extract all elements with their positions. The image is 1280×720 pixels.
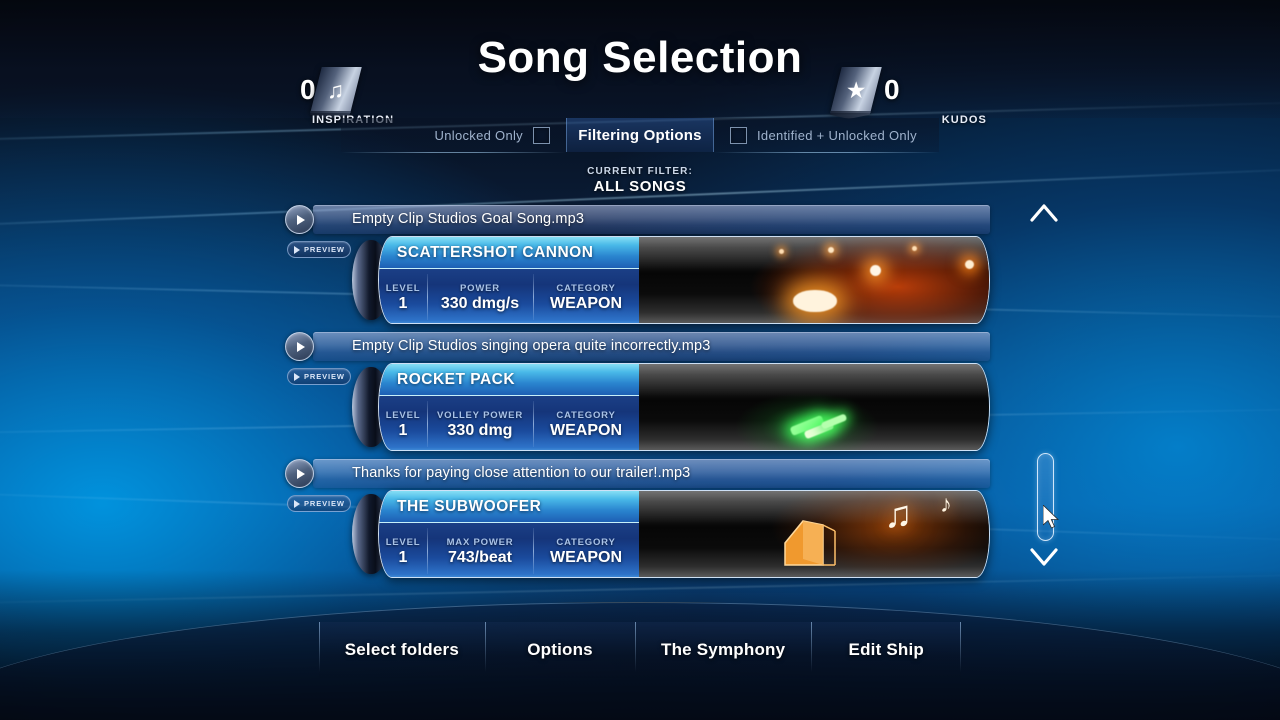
weapon-stats: LEVEL 1 POWER 330 dmg/s CATEGORY WEAPON bbox=[379, 269, 639, 324]
song-selection-screen: Song Selection 0 ♫ INSPIRATION ★ 0 KUDOS… bbox=[0, 0, 1280, 720]
filtering-options-label: Filtering Options bbox=[578, 127, 701, 144]
song-title-row[interactable]: Empty Clip Studios Goal Song.mp3 bbox=[285, 203, 990, 236]
play-small-icon bbox=[294, 373, 300, 381]
stat-label: LEVEL bbox=[386, 537, 421, 548]
stat-value: WEAPON bbox=[550, 423, 622, 439]
weapon-card[interactable]: ROCKET PACK LEVEL 1 VOLLEY POWER 330 dmg bbox=[352, 363, 990, 451]
stat-label: CATEGORY bbox=[556, 283, 615, 294]
weapon-card[interactable]: SCATTERSHOT CANNON LEVEL 1 POWER 330 dmg… bbox=[352, 236, 990, 324]
stat-value: 330 dmg bbox=[448, 423, 513, 439]
identified-unlocked-only-option[interactable]: Identified + Unlocked Only bbox=[714, 118, 939, 152]
divider bbox=[341, 152, 566, 153]
preview-label: PREVIEW bbox=[304, 245, 345, 254]
song-list: Empty Clip Studios Goal Song.mp3 PREVIEW… bbox=[0, 203, 1280, 584]
play-icon[interactable] bbox=[285, 205, 314, 234]
inspiration-counter: 0 ♫ INSPIRATION bbox=[300, 68, 450, 116]
weapon-info: THE SUBWOOFER LEVEL 1 MAX POWER 743/beat bbox=[379, 491, 639, 577]
weapon-stat: CATEGORY WEAPON bbox=[533, 396, 639, 451]
weapon-stat: MAX POWER 743/beat bbox=[427, 523, 533, 578]
song-entry[interactable]: Empty Clip Studios singing opera quite i… bbox=[0, 330, 1280, 457]
preview-button[interactable]: PREVIEW bbox=[287, 368, 351, 385]
chevron-down-icon[interactable] bbox=[1027, 546, 1061, 568]
weapon-stats: LEVEL 1 VOLLEY POWER 330 dmg CATEGORY WE… bbox=[379, 396, 639, 451]
nav-the-symphony[interactable]: The Symphony bbox=[635, 622, 811, 678]
mouse-cursor bbox=[1043, 505, 1061, 531]
preview-label: PREVIEW bbox=[304, 499, 345, 508]
identified-unlocked-only-checkbox[interactable] bbox=[730, 127, 747, 144]
stat-value: 743/beat bbox=[448, 550, 512, 566]
stat-value: WEAPON bbox=[550, 296, 622, 312]
weapon-stat: VOLLEY POWER 330 dmg bbox=[427, 396, 533, 451]
stat-value: 330 dmg/s bbox=[441, 296, 519, 312]
preview-button[interactable]: PREVIEW bbox=[287, 241, 351, 258]
weapon-card[interactable]: THE SUBWOOFER LEVEL 1 MAX POWER 743/beat bbox=[352, 490, 990, 578]
nav-label: Select folders bbox=[345, 640, 459, 660]
weapon-info: SCATTERSHOT CANNON LEVEL 1 POWER 330 dmg… bbox=[379, 237, 639, 323]
header: Song Selection 0 ♫ INSPIRATION ★ 0 KUDOS bbox=[0, 0, 1280, 118]
weapon-stat: LEVEL 1 bbox=[379, 523, 427, 578]
scrollbar[interactable] bbox=[1015, 200, 1075, 590]
weapon-title: SCATTERSHOT CANNON bbox=[379, 237, 639, 269]
stat-label: CATEGORY bbox=[556, 537, 615, 548]
play-icon[interactable] bbox=[285, 459, 314, 488]
weapon-title: ROCKET PACK bbox=[379, 364, 639, 396]
weapon-stat: CATEGORY WEAPON bbox=[533, 523, 639, 578]
stat-label: POWER bbox=[460, 283, 500, 294]
unlocked-only-label: Unlocked Only bbox=[435, 128, 523, 143]
bottom-navigation: Select folders Options The Symphony Edit… bbox=[0, 612, 1280, 720]
capsule-body: THE SUBWOOFER LEVEL 1 MAX POWER 743/beat bbox=[378, 490, 990, 578]
nav-options[interactable]: Options bbox=[485, 622, 635, 678]
identified-unlocked-only-label: Identified + Unlocked Only bbox=[757, 128, 917, 143]
preview-button[interactable]: PREVIEW bbox=[287, 495, 351, 512]
nav-label: Edit Ship bbox=[849, 640, 924, 660]
unlocked-only-option[interactable]: Unlocked Only bbox=[341, 118, 566, 152]
song-title-row[interactable]: Empty Clip Studios singing opera quite i… bbox=[285, 330, 990, 363]
song-title: Empty Clip Studios Goal Song.mp3 bbox=[352, 203, 584, 236]
current-filter-value: ALL SONGS bbox=[0, 178, 1280, 195]
weapon-preview-art bbox=[639, 237, 989, 323]
nav-label: Options bbox=[527, 640, 593, 660]
stat-label: LEVEL bbox=[386, 410, 421, 421]
divider bbox=[714, 152, 939, 153]
song-title-row[interactable]: Thanks for paying close attention to our… bbox=[285, 457, 990, 490]
weapon-title: THE SUBWOOFER bbox=[379, 491, 639, 523]
filtering-options-tab[interactable]: Filtering Options bbox=[566, 118, 714, 152]
current-filter-label: CURRENT FILTER: bbox=[0, 166, 1280, 177]
weapon-stat: LEVEL 1 bbox=[379, 269, 427, 324]
kudos-counter: ★ 0 KUDOS bbox=[836, 68, 991, 116]
nav-edit-ship[interactable]: Edit Ship bbox=[811, 622, 961, 678]
weapon-preview-art: ♫ ♪ bbox=[639, 491, 989, 577]
nav-select-folders[interactable]: Select folders bbox=[319, 622, 485, 678]
weapon-info: ROCKET PACK LEVEL 1 VOLLEY POWER 330 dmg bbox=[379, 364, 639, 450]
nav-label: The Symphony bbox=[661, 640, 785, 660]
weapon-stat: LEVEL 1 bbox=[379, 396, 427, 451]
capsule-body: SCATTERSHOT CANNON LEVEL 1 POWER 330 dmg… bbox=[378, 236, 990, 324]
stat-value: 1 bbox=[399, 296, 408, 312]
capsule-body: ROCKET PACK LEVEL 1 VOLLEY POWER 330 dmg bbox=[378, 363, 990, 451]
song-title: Empty Clip Studios singing opera quite i… bbox=[352, 330, 710, 363]
star-icon: ★ bbox=[830, 67, 881, 113]
page-title: Song Selection bbox=[0, 36, 1280, 80]
music-note-icon: ♫ bbox=[310, 67, 361, 113]
stat-label: CATEGORY bbox=[556, 410, 615, 421]
song-entry[interactable]: Thanks for paying close attention to our… bbox=[0, 457, 1280, 584]
play-small-icon bbox=[294, 500, 300, 508]
filtering-options-bar: Unlocked Only Filtering Options Identifi… bbox=[0, 118, 1280, 152]
weapon-preview-art bbox=[639, 364, 989, 450]
stat-label: VOLLEY POWER bbox=[437, 410, 523, 421]
play-small-icon bbox=[294, 246, 300, 254]
weapon-stat: POWER 330 dmg/s bbox=[427, 269, 533, 324]
play-icon[interactable] bbox=[285, 332, 314, 361]
song-entry[interactable]: Empty Clip Studios Goal Song.mp3 PREVIEW… bbox=[0, 203, 1280, 330]
stat-label: LEVEL bbox=[386, 283, 421, 294]
song-title: Thanks for paying close attention to our… bbox=[352, 457, 690, 490]
weapon-stats: LEVEL 1 MAX POWER 743/beat CATEGORY WEAP… bbox=[379, 523, 639, 578]
weapon-stat: CATEGORY WEAPON bbox=[533, 269, 639, 324]
unlocked-only-checkbox[interactable] bbox=[533, 127, 550, 144]
preview-label: PREVIEW bbox=[304, 372, 345, 381]
stat-label: MAX POWER bbox=[447, 537, 514, 548]
current-filter: CURRENT FILTER: ALL SONGS bbox=[0, 166, 1280, 195]
stat-value: 1 bbox=[399, 423, 408, 439]
chevron-up-icon[interactable] bbox=[1027, 202, 1061, 224]
kudos-value: 0 bbox=[884, 74, 900, 106]
stat-value: 1 bbox=[399, 550, 408, 566]
stat-value: WEAPON bbox=[550, 550, 622, 566]
